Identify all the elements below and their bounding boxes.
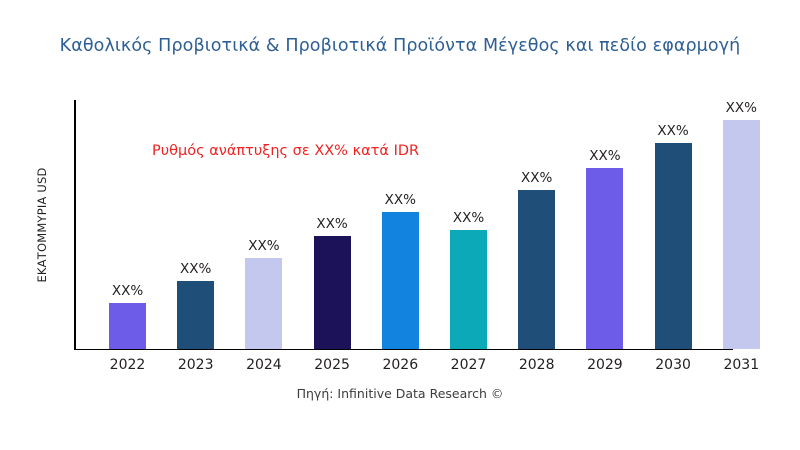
y-axis-line (74, 100, 76, 350)
source-caption: Πηγή: Infinitive Data Research © (0, 386, 800, 401)
bar-value-label-2023: XX% (156, 261, 236, 277)
bar-2029 (586, 168, 623, 349)
bar-value-label-2028: XX% (497, 170, 577, 186)
bar-value-label-2022: XX% (88, 283, 168, 299)
x-tick-label-2029: 2029 (565, 357, 645, 373)
x-tick-label-2028: 2028 (497, 357, 577, 373)
bar-value-label-2024: XX% (224, 238, 304, 254)
x-tick-label-2023: 2023 (156, 357, 236, 373)
y-axis-title: ΕΚΑΤΟΜΜΥΡΙΑ USD (35, 100, 49, 350)
bar-value-label-2029: XX% (565, 148, 645, 164)
bar-2028 (518, 190, 555, 349)
x-tick-label-2030: 2030 (633, 357, 713, 373)
bar-value-label-2025: XX% (292, 216, 372, 232)
chart-title: Καθολικός Προβιοτικά & Προβιοτικά Προϊόν… (0, 36, 800, 56)
bar-2030 (655, 143, 692, 349)
growth-rate-annotation: Ρυθμός ανάπτυξης σε XX% κατά IDR (152, 143, 419, 159)
plot-area: XX%2022XX%2023XX%2024XX%2025XX%2026XX%20… (0, 0, 800, 450)
x-tick-label-2022: 2022 (88, 357, 168, 373)
bar-2025 (314, 236, 351, 349)
bar-chart: Καθολικός Προβιοτικά & Προβιοτικά Προϊόν… (0, 0, 800, 450)
x-tick-label-2025: 2025 (292, 357, 372, 373)
bar-2027 (450, 230, 487, 349)
x-tick-label-2024: 2024 (224, 357, 304, 373)
bar-2024 (245, 258, 282, 349)
x-axis-line (74, 349, 733, 351)
bar-2031 (723, 120, 760, 349)
x-tick-label-2031: 2031 (701, 357, 781, 373)
bar-value-label-2031: XX% (701, 100, 781, 116)
bar-value-label-2027: XX% (429, 210, 509, 226)
x-tick-label-2026: 2026 (360, 357, 440, 373)
bar-value-label-2030: XX% (633, 123, 713, 139)
bar-2026 (382, 212, 419, 349)
bar-2023 (177, 281, 214, 349)
bar-2022 (109, 303, 146, 349)
bar-value-label-2026: XX% (360, 192, 440, 208)
x-tick-label-2027: 2027 (429, 357, 509, 373)
